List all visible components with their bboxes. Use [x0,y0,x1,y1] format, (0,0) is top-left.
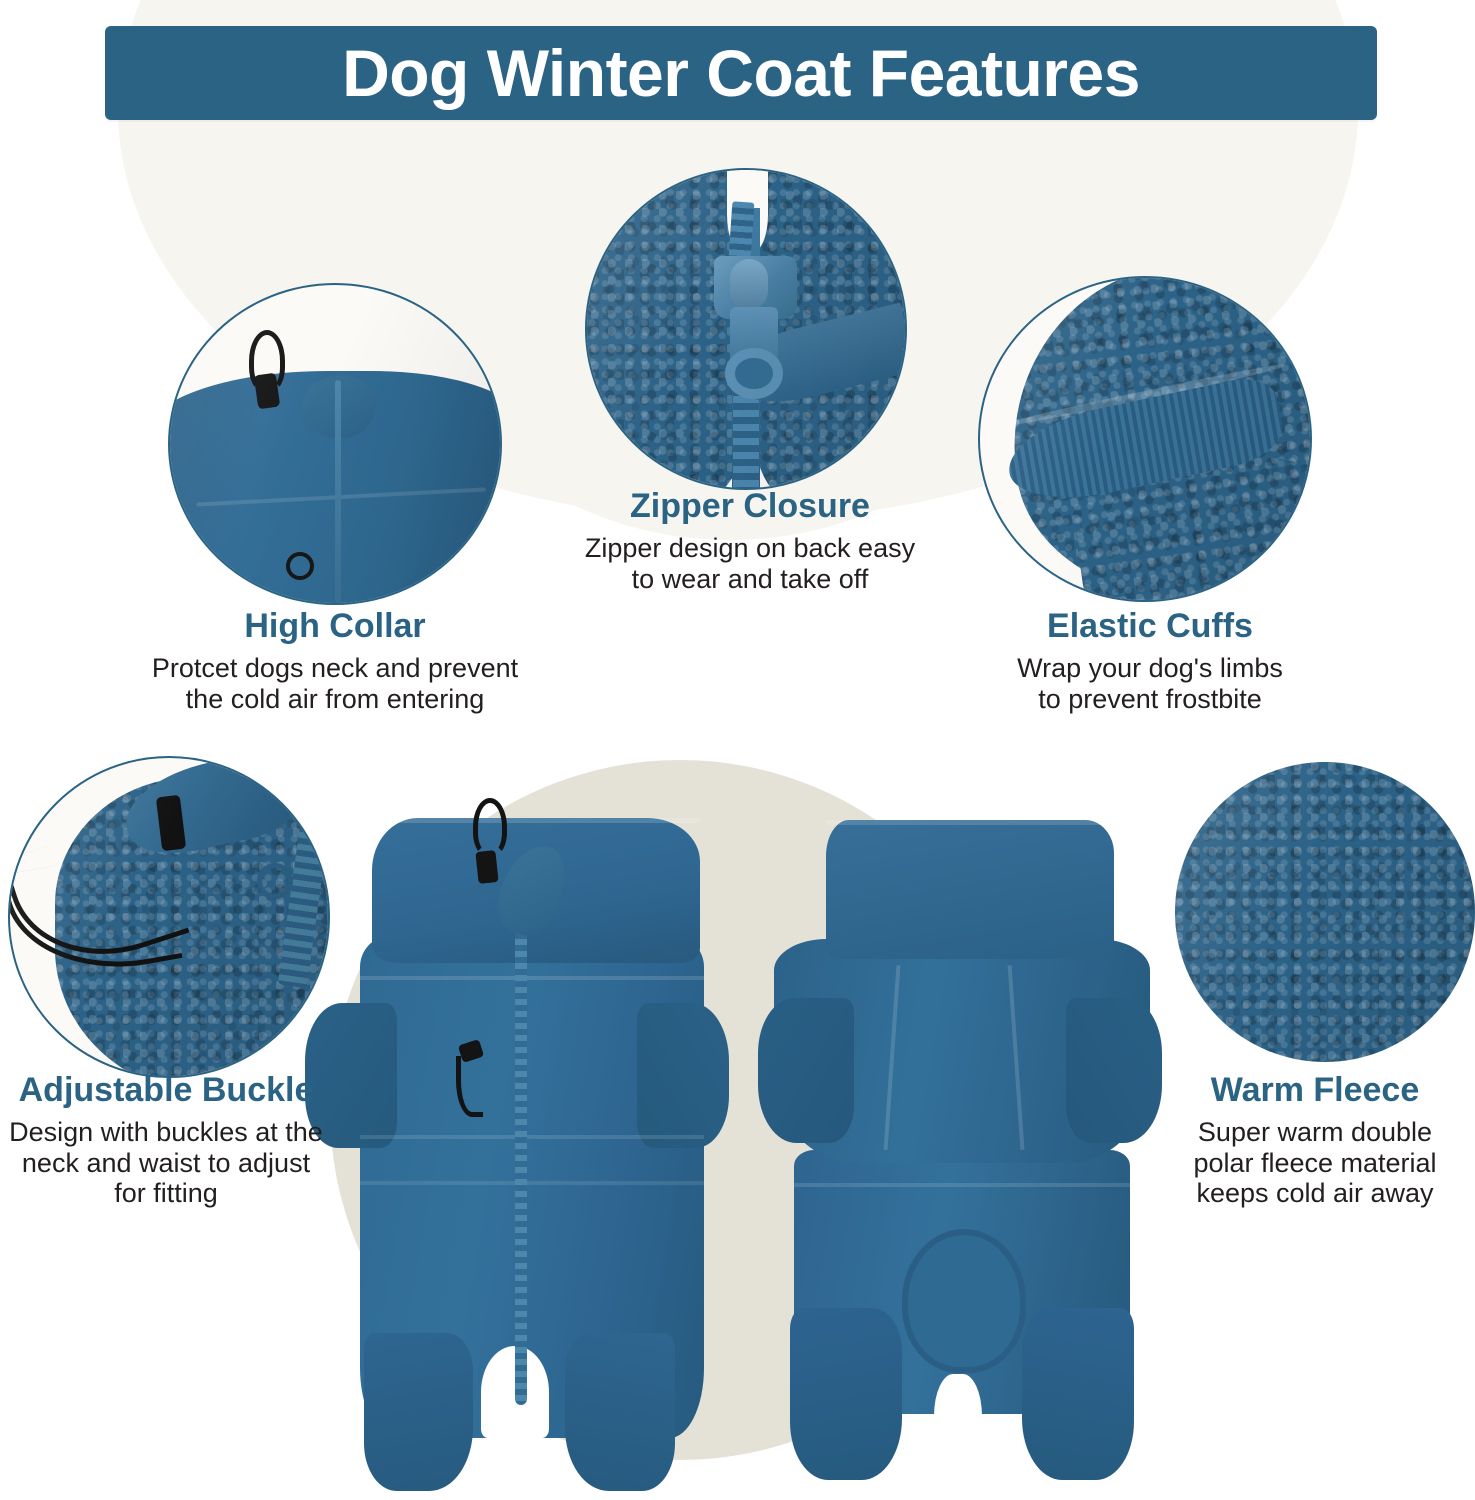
coat-waist-seam-secondary [360,1181,704,1185]
photo-sheen [1175,762,1475,1062]
zipper-pull-ring-icon [725,348,782,399]
feature-desc-adjustable-buckle: Design with buckles at the neck and wais… [6,1117,326,1208]
feature-image-adjustable-buckle [8,756,330,1078]
product-photo-back-view [758,820,1158,1480]
feature-title-warm-fleece: Warm Fleece [1160,1072,1470,1109]
eyelet-icon [257,863,293,899]
coat-leg-left [790,1308,902,1480]
desc-line: Design with buckles at the [6,1117,326,1147]
desc-line: Protcet dogs neck and prevent [110,653,560,683]
desc-line: Zipper design on back easy [520,533,980,563]
feature-desc-zipper-closure: Zipper design on back easy to wear and t… [520,533,980,593]
zipper-seam [335,380,341,603]
desc-line: keeps cold air away [1160,1178,1470,1208]
coat-sleeve-right [637,1003,729,1148]
coat-waist-seam [360,1135,704,1139]
feature-image-warm-fleece [1175,762,1475,1062]
feature-text-warm-fleece: Warm Fleece Super warm double polar flee… [1160,1072,1470,1208]
coat-leg-left [364,1333,473,1491]
neck-cord-lock-icon [476,850,499,884]
desc-line: neck and waist to adjust [6,1148,326,1178]
coat-sleeve-right [1066,998,1162,1143]
collar-edge-highlight [826,820,1114,825]
desc-line: to prevent frostbite [940,684,1360,714]
desc-line: Wrap your dog's limbs [940,653,1360,683]
feature-desc-elastic-cuffs: Wrap your dog's limbs to prevent frostbi… [940,653,1360,713]
feature-desc-warm-fleece: Super warm double polar fleece material … [1160,1117,1470,1208]
page-title: Dog Winter Coat Features [342,40,1140,106]
product-photo-front-view [305,818,725,1478]
eyelet-icon [286,552,314,580]
feature-text-adjustable-buckle: Adjustable Buckle Design with buckles at… [6,1072,326,1208]
feature-title-zipper-closure: Zipper Closure [520,488,980,525]
feature-title-high-collar: High Collar [110,608,560,645]
feature-title-elastic-cuffs: Elastic Cuffs [940,608,1360,645]
feature-image-elastic-cuffs [978,276,1312,602]
coat-rear-opening [902,1229,1026,1373]
feature-text-elastic-cuffs: Elastic Cuffs Wrap your dog's limbs to p… [940,608,1360,714]
title-banner: Dog Winter Coat Features [105,26,1377,120]
coat-yoke-seam [360,976,704,980]
coat-sleeve-left [758,998,854,1143]
desc-line: polar fleece material [1160,1148,1470,1178]
feature-title-adjustable-buckle: Adjustable Buckle [6,1072,326,1109]
feature-image-high-collar [168,283,502,605]
coat-leg-right [565,1333,674,1491]
coat-front-zipper [515,891,527,1406]
feature-image-zipper-closure [585,168,907,490]
coat-high-collar [826,820,1114,959]
feature-text-high-collar: High Collar Protcet dogs neck and preven… [110,608,560,714]
coat-waist-seam [794,1183,1130,1187]
desc-line: the cold air from entering [110,684,560,714]
feature-desc-high-collar: Protcet dogs neck and prevent the cold a… [110,653,560,713]
infographic-canvas: Dog Winter Coat Features [0,0,1475,1500]
zipper-pull-tab-icon [730,259,768,310]
neck-drawstring-icon [473,798,507,856]
coat-leg-gap [934,1374,982,1480]
collar-edge-highlight [372,818,700,823]
desc-line: to wear and take off [520,564,980,594]
feature-text-zipper-closure: Zipper Closure Zipper design on back eas… [520,488,980,594]
coat-leg-right [1022,1308,1134,1480]
desc-line: for fitting [6,1178,326,1208]
cord-lock-icon [254,373,281,410]
desc-line: Super warm double [1160,1117,1470,1147]
